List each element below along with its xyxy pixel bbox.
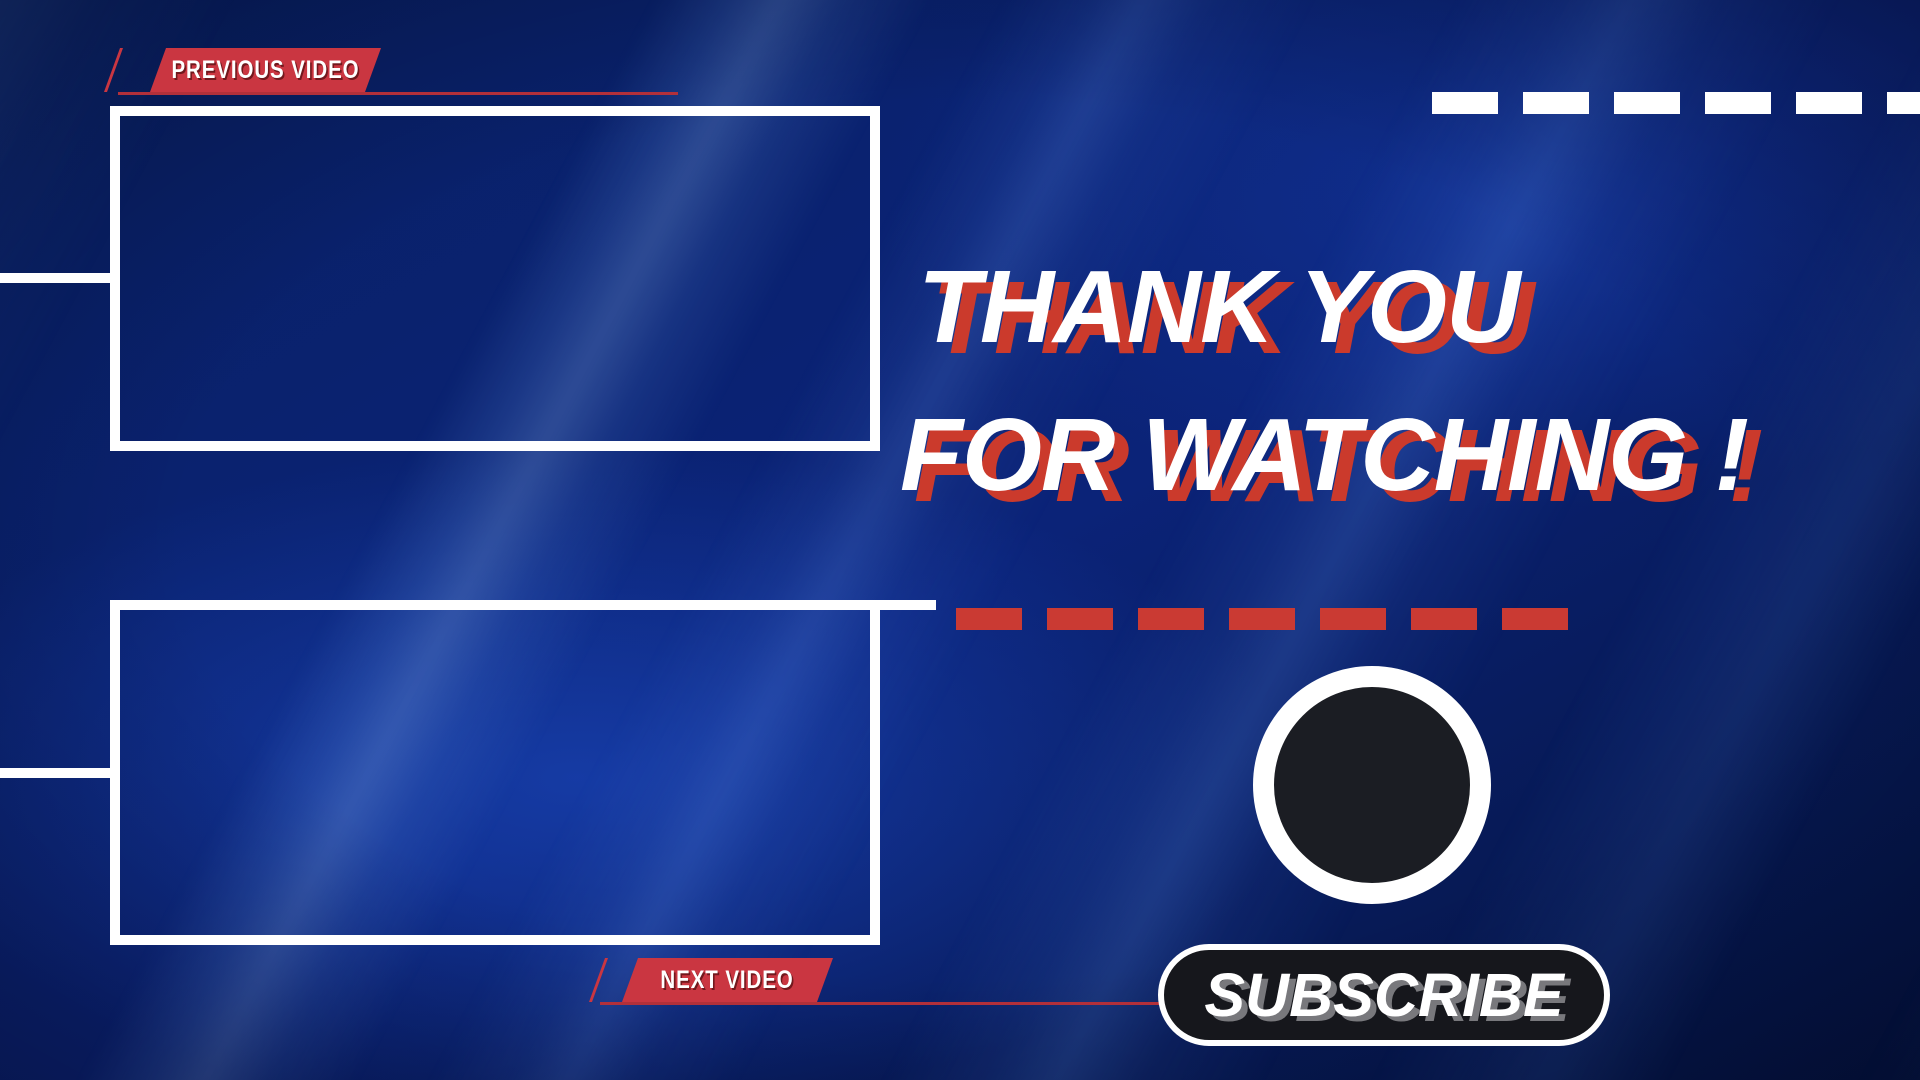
next-video-badge[interactable]: NEXT VIDEO [622,958,833,1002]
next-video-right-connector [878,600,936,610]
previous-video-badge-label: PREVIOUS VIDEO [151,56,380,85]
dash-segment [1411,608,1477,630]
dash-segment [1502,608,1568,630]
subscribe-button[interactable]: SUBSCRIBE [1158,944,1610,1046]
dash-segment [1705,92,1771,114]
headline-block: THANK YOU THANK YOU FOR WATCHING ! FOR W… [900,248,1840,514]
dash-segment [1887,92,1920,114]
headline-line-2: FOR WATCHING ! FOR WATCHING ! [900,396,1840,514]
dash-segment [1432,92,1498,114]
headline-line-1: THANK YOU THANK YOU [918,248,1840,366]
dash-segment [1229,608,1295,630]
dash-segment [1047,608,1113,630]
previous-video-left-connector [0,273,112,283]
channel-avatar-slot[interactable] [1253,666,1491,904]
dash-segment [1796,92,1862,114]
dash-segment [1320,608,1386,630]
previous-video-badge[interactable]: PREVIOUS VIDEO [150,48,381,92]
red-dashed-rule [956,608,1568,630]
headline-line-2-fill: FOR WATCHING ! [900,396,1748,514]
dash-segment [1614,92,1680,114]
dash-segment [1523,92,1589,114]
headline-line-1-fill: THANK YOU [918,248,1519,366]
previous-video-badge-underline [118,92,678,95]
dash-segment [956,608,1022,630]
next-video-badge-label: NEXT VIDEO [646,966,808,995]
next-video-left-connector [0,768,112,778]
end-screen-canvas: PREVIOUS VIDEO NEXT VIDEO THANK YOU THAN… [0,0,1920,1080]
subscribe-button-label: SUBSCRIBE [1204,960,1563,1030]
white-dashed-rule [1432,92,1920,114]
previous-video-thumbnail-slot[interactable] [110,106,880,451]
next-video-thumbnail-slot[interactable] [110,600,880,945]
dash-segment [1138,608,1204,630]
